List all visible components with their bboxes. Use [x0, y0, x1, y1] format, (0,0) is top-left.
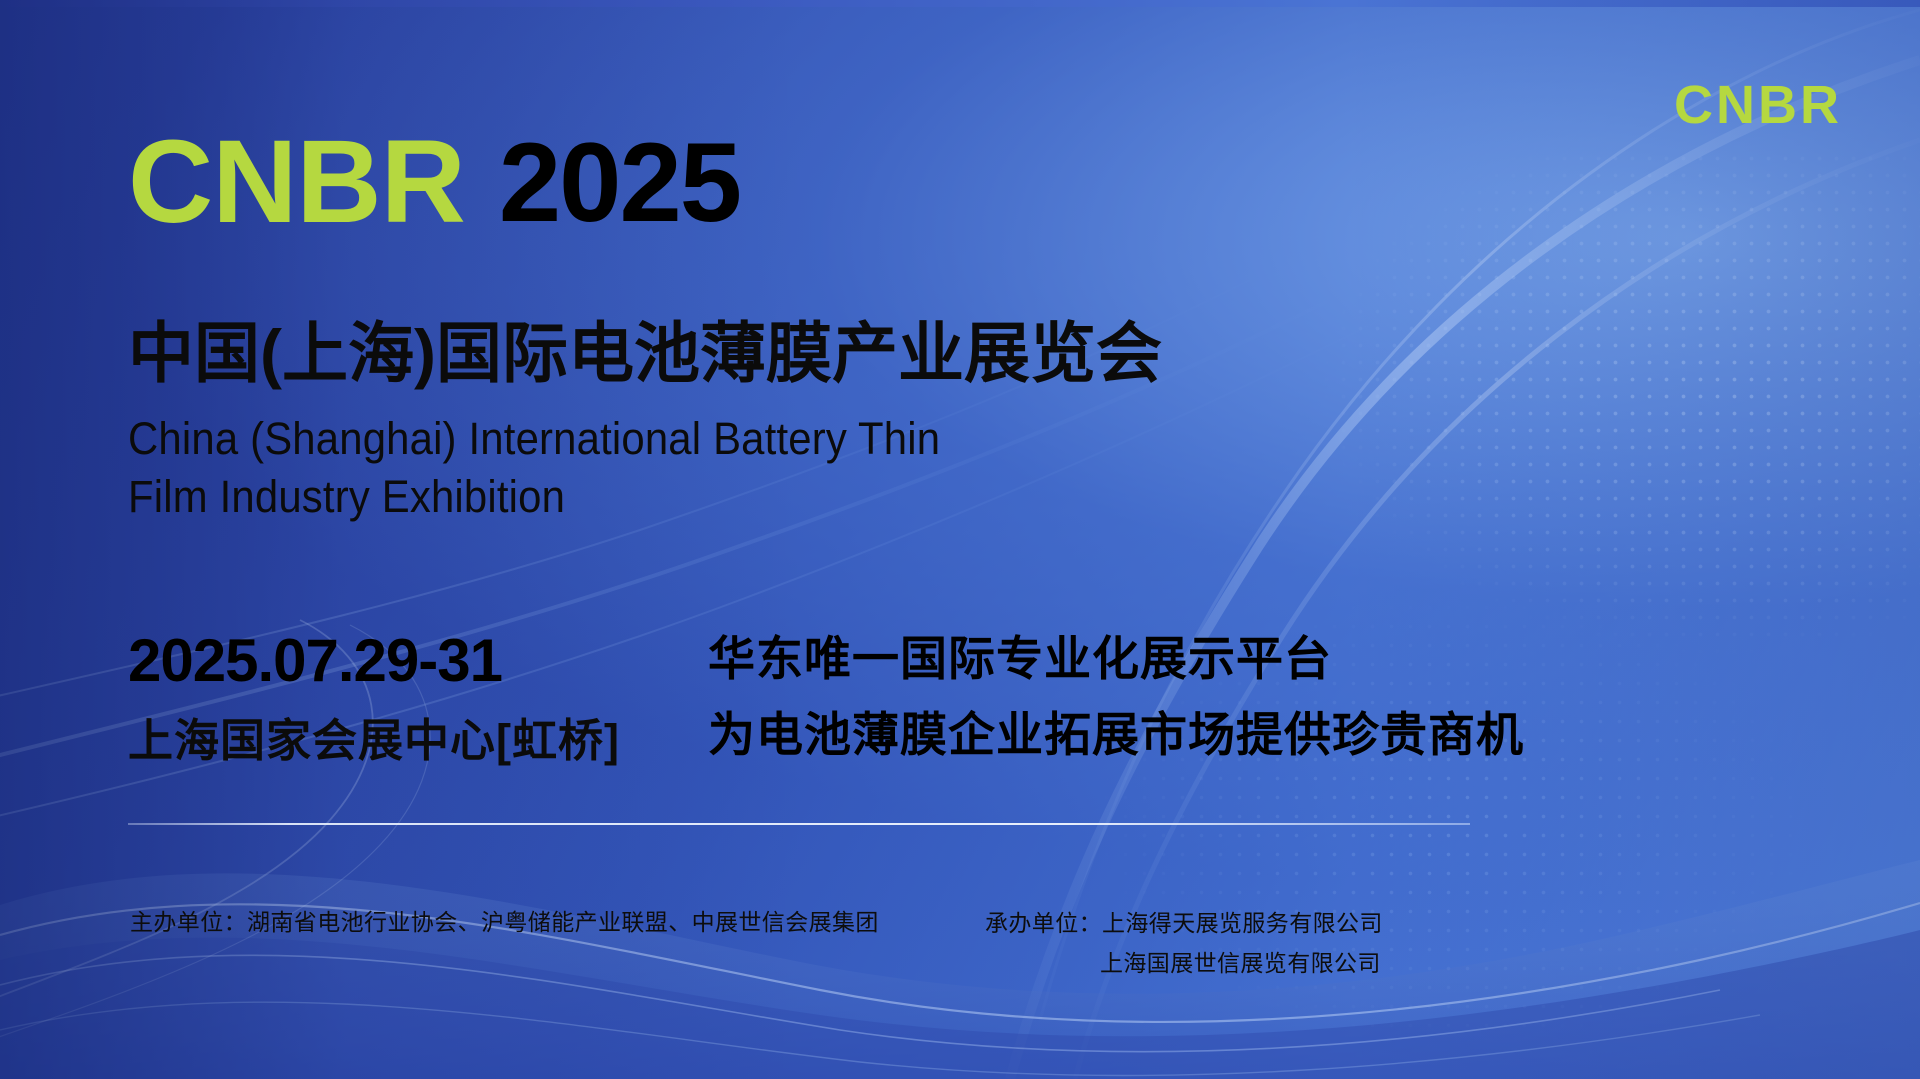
- event-slogan: 华东唯一国际专业化展示平台 为电池薄膜企业拓展市场提供珍贵商机: [708, 622, 1524, 774]
- event-venue: 上海国家会展中心[虹桥]: [128, 704, 620, 769]
- headline-block: CNBR 2025: [128, 128, 740, 237]
- exhibition-title-english: China (Shanghai) International Battery T…: [128, 410, 940, 525]
- event-slogan-line2: 为电池薄膜企业拓展市场提供珍贵商机: [708, 698, 1524, 774]
- exhibition-title-english-line1: China (Shanghai) International Battery T…: [128, 410, 940, 468]
- corner-brand-logo: CNBR: [1674, 78, 1842, 132]
- organizer-organizations: 承办单位：上海得天展览服务有限公司 上海国展世信展览有限公司: [985, 903, 1383, 984]
- headline-year: 2025: [499, 130, 740, 236]
- brand-wordmark: CNBR: [128, 128, 465, 237]
- exhibition-title-chinese: 中国(上海)国际电池薄膜产业展览会: [128, 318, 1162, 389]
- organizer-line2: 上海国展世信展览有限公司: [985, 943, 1383, 983]
- poster-canvas: CNBR CNBR 2025 中国(上海)国际电池薄膜产业展览会 China (…: [0, 0, 1920, 1079]
- event-date: 2025.07.29-31: [128, 626, 502, 695]
- brand-wordmark-text: CNBR: [128, 116, 465, 248]
- corner-brand-logo-text: CNBR: [1674, 75, 1842, 135]
- organizer-line1: 承办单位：上海得天展览服务有限公司: [985, 910, 1383, 936]
- footer-divider: [128, 823, 1470, 825]
- exhibition-title-english-line2: Film Industry Exhibition: [128, 468, 940, 526]
- event-slogan-line1: 华东唯一国际专业化展示平台: [708, 622, 1524, 698]
- host-organizations: 主办单位：湖南省电池行业协会、沪粤储能产业联盟、中展世信会展集团: [130, 903, 879, 937]
